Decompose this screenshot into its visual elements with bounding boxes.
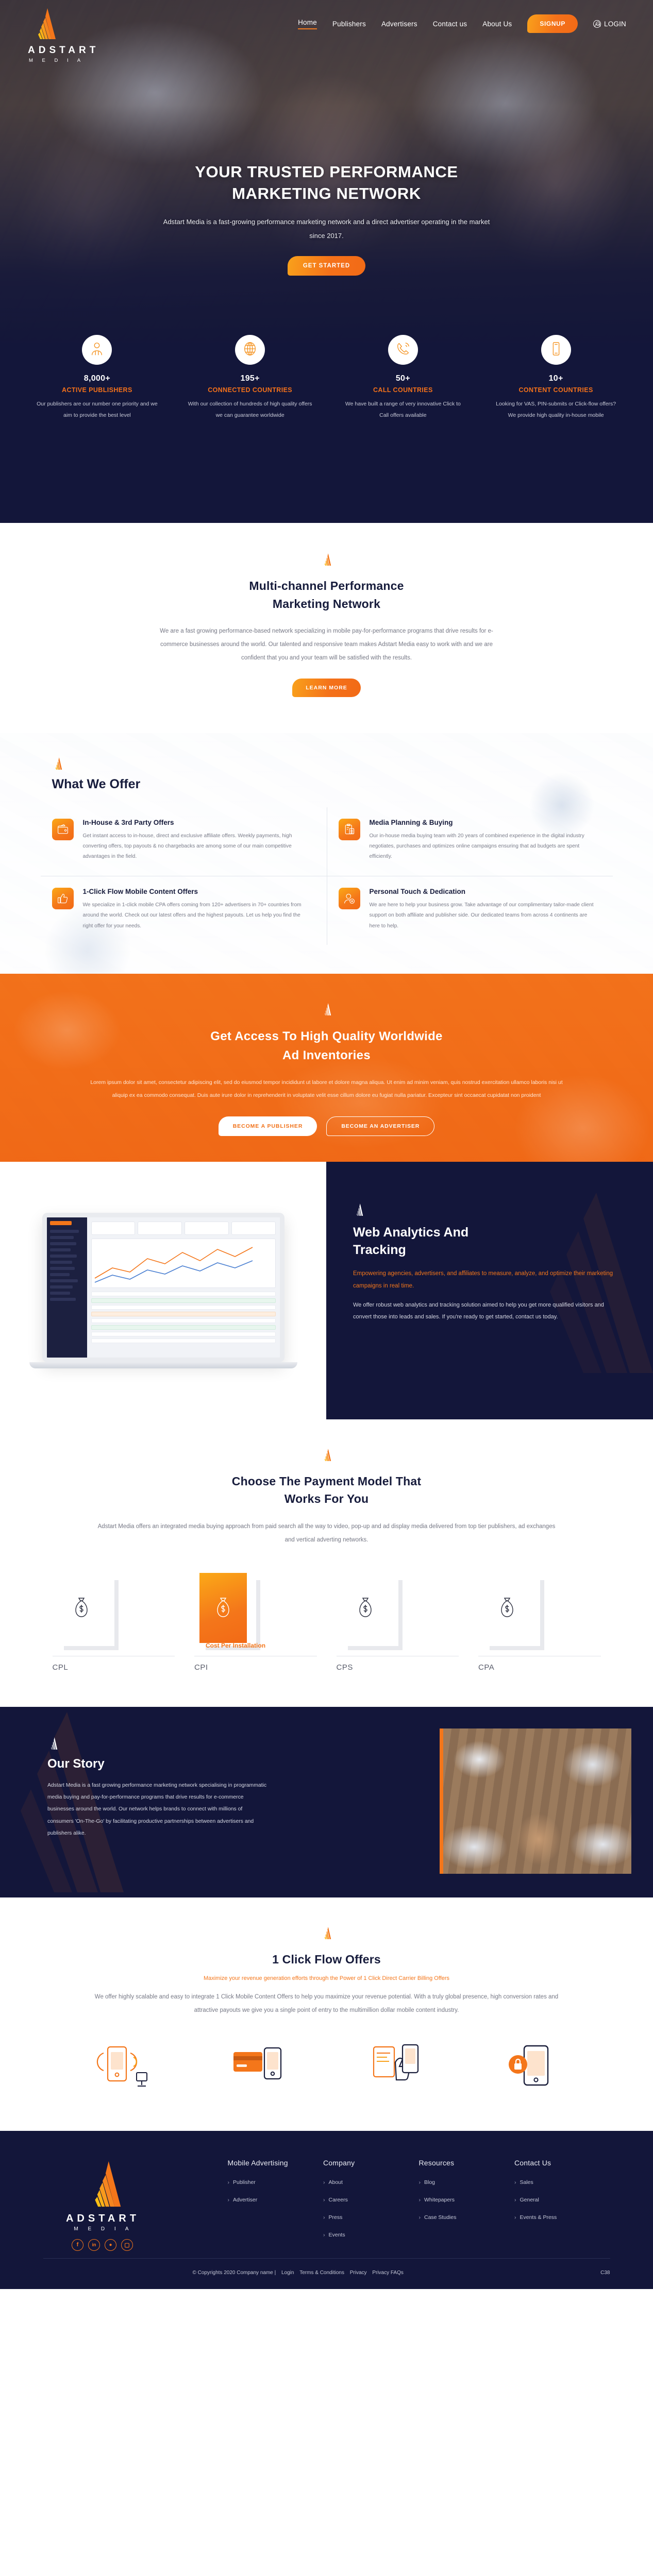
- analytics-title-line1: Web Analytics And: [353, 1225, 468, 1240]
- click-flow-card: [59, 2035, 183, 2101]
- payment-title-line1: Choose The Payment Model That: [232, 1475, 421, 1488]
- analytics-body: We offer robust web analytics and tracki…: [353, 1299, 617, 1323]
- laptop-mockup: [42, 1213, 284, 1368]
- adstart-mark-white-icon: [0, 1003, 653, 1019]
- globe-icon: [242, 341, 258, 359]
- footer-link-blog[interactable]: ›Blog: [419, 2179, 515, 2185]
- mobile-lock-icon: [504, 2042, 561, 2094]
- footer-columns: Mobile Advertising ›Publisher ›Advertise…: [162, 2158, 610, 2251]
- become-a-publisher-button[interactable]: BECOME A PUBLISHER: [219, 1116, 317, 1136]
- payment-model-name: Cost Per Installation: [206, 1642, 265, 1649]
- analytics-dashboard-preview: [0, 1162, 326, 1419]
- add-user-icon: [339, 888, 360, 909]
- payment-model-card[interactable]: Cost Per Installation CPI: [190, 1568, 321, 1676]
- payment-model-card[interactable]: CPL: [48, 1568, 179, 1676]
- site-footer: ADSTART M E D I A f in ● ▢ Mobile Advert…: [0, 2131, 653, 2289]
- footer-link-events[interactable]: ›Events: [323, 2232, 419, 2238]
- payment-model-abbr: CPI: [194, 1663, 208, 1672]
- adstart-mark-icon: [52, 757, 613, 773]
- offer-card-body: We specialize in 1-click mobile CPA offe…: [83, 900, 311, 931]
- user-icon: [593, 20, 601, 28]
- click-flow-card: [333, 2035, 458, 2101]
- payment-model-card[interactable]: CPS: [332, 1568, 463, 1676]
- our-story-section: Our Story Adstart Media is a fast growin…: [0, 1707, 653, 1897]
- login-label: LOGIN: [604, 20, 626, 28]
- footer-link-events-press[interactable]: ›Events & Press: [514, 2214, 610, 2221]
- stat-number: 50+: [340, 374, 466, 383]
- offer-card-body: Our in-house media buying team with 20 y…: [370, 831, 597, 862]
- stat-description: Our publishers are our number one priori…: [34, 399, 160, 421]
- footer-logo-wordmark: ADSTART: [43, 2213, 162, 2225]
- nav-item-advertisers[interactable]: Advertisers: [381, 20, 417, 28]
- mobile-icon: [548, 341, 564, 359]
- money-bag-icon: [483, 1573, 531, 1643]
- payment-models-grid: CPL Cost Per Installation CPI: [48, 1568, 605, 1676]
- payment-body: Adstart Media offers an integrated media…: [95, 1520, 559, 1547]
- offer-card-title: Media Planning & Buying: [370, 819, 597, 826]
- offer-card-title: 1-Click Flow Mobile Content Offers: [83, 888, 311, 895]
- footer-column-mobile-advertising: Mobile Advertising ›Publisher ›Advertise…: [228, 2159, 324, 2251]
- bottom-link-login[interactable]: Login: [281, 2270, 294, 2276]
- analytics-title-line2: Tracking: [353, 1243, 406, 1257]
- stat-number: 195+: [187, 374, 313, 383]
- offer-card: 1-Click Flow Mobile Content Offers We sp…: [41, 876, 327, 945]
- offer-card-body: We are here to help your business grow. …: [370, 900, 597, 931]
- linkedin-icon[interactable]: in: [88, 2239, 100, 2251]
- main-navigation: Home Publishers Advertisers Contact us A…: [298, 7, 626, 33]
- offer-card: Media Planning & Buying Our in-house med…: [327, 807, 613, 876]
- stat-icon-wrap: [388, 335, 418, 365]
- stat-description: With our collection of hundreds of high …: [187, 399, 313, 421]
- thumbs-up-icon: [52, 888, 74, 909]
- phone-icon: [395, 341, 411, 359]
- stat-card: 8,000+ ACTIVE PUBLISHERS Our publishers …: [21, 335, 174, 421]
- footer-logo[interactable]: ADSTART M E D I A f in ● ▢: [43, 2158, 162, 2251]
- site-header: ADSTART M E D I A Home Publishers Advert…: [0, 0, 653, 63]
- footer-divider: [43, 2258, 610, 2259]
- logo-wordmark: ADSTART: [27, 45, 104, 56]
- become-an-advertiser-button[interactable]: BECOME AN ADVERTISER: [326, 1116, 434, 1136]
- footer-link-case-studies[interactable]: ›Case Studies: [419, 2214, 515, 2221]
- click-flow-card: [470, 2035, 595, 2101]
- bottom-link-privacy-faqs[interactable]: Privacy FAQs: [372, 2270, 404, 2276]
- stat-label: CONTENT COUNTRIES: [493, 386, 619, 394]
- stat-icon-wrap: [82, 335, 112, 365]
- offer-grid: In-House & 3rd Party Offers Get instant …: [41, 807, 613, 945]
- nav-item-about-us[interactable]: About Us: [482, 20, 512, 28]
- analytics-highlight: Empowering agencies, advertisers, and af…: [353, 1268, 617, 1292]
- stat-card: 10+ CONTENT COUNTRIES Looking for VAS, P…: [479, 335, 632, 421]
- hero-title: YOUR TRUSTED PERFORMANCE MARKETING NETWO…: [0, 161, 653, 205]
- twitter-icon[interactable]: ●: [105, 2239, 116, 2251]
- footer-column-heading: Resources: [419, 2159, 515, 2167]
- money-bag-icon: [342, 1573, 389, 1643]
- footer-column-resources: Resources ›Blog ›Whitepapers ›Case Studi…: [419, 2159, 515, 2251]
- ad-inventories-cta-section: Get Access To High Quality Worldwide Ad …: [0, 974, 653, 1162]
- cta-title-line2: Ad Inventories: [282, 1048, 371, 1062]
- adstart-logo-icon: [27, 7, 104, 43]
- one-click-flow-section: 1 Click Flow Offers Maximize your revenu…: [0, 1897, 653, 2131]
- story-copy: Our Story Adstart Media is a fast growin…: [0, 1707, 268, 1840]
- payment-model-section: Choose The Payment Model That Works For …: [0, 1419, 653, 1707]
- multichannel-title: Multi-channel Performance Marketing Netw…: [0, 577, 653, 613]
- get-started-button[interactable]: GET STARTED: [288, 256, 365, 276]
- logo-subtext: M E D I A: [27, 58, 104, 63]
- footer-logo-subtext: M E D I A: [43, 2226, 162, 2232]
- cta-title-line1: Get Access To High Quality Worldwide: [210, 1029, 442, 1043]
- hero-subtitle: Adstart Media is a fast-growing performa…: [162, 215, 492, 243]
- hero-title-line1: YOUR TRUSTED PERFORMANCE: [195, 163, 458, 181]
- multichannel-body: We are a fast growing performance-based …: [152, 625, 502, 665]
- bottom-link-privacy[interactable]: Privacy: [350, 2270, 367, 2276]
- cta-title: Get Access To High Quality Worldwide Ad …: [0, 1027, 653, 1065]
- adstart-logo-icon: [78, 2201, 127, 2210]
- wallet-icon: [52, 819, 74, 840]
- footer-link-about[interactable]: ›About: [323, 2179, 419, 2185]
- stat-icon-wrap: [235, 335, 265, 365]
- stat-description: We have built a range of very innovative…: [340, 399, 466, 421]
- mobile-antenna-icon: [92, 2042, 150, 2094]
- payment-title: Choose The Payment Model That Works For …: [0, 1472, 653, 1508]
- page-root: ADSTART M E D I A Home Publishers Advert…: [0, 0, 653, 2289]
- money-bag-icon: [199, 1573, 247, 1643]
- stat-card: 50+ CALL COUNTRIES We have built a range…: [327, 335, 480, 421]
- footer-link-publisher[interactable]: ›Publisher: [228, 2179, 324, 2185]
- stats-row: 8,000+ ACTIVE PUBLISHERS Our publishers …: [0, 335, 653, 421]
- offer-title: What We Offer: [52, 777, 613, 792]
- copyright-bar: © Copyrights 2020 Company name | Login T…: [193, 2270, 404, 2276]
- clipboard-calculator-icon: [339, 819, 360, 840]
- click-flow-subtitle: Maximize your revenue generation efforts…: [0, 1975, 653, 1981]
- signup-button[interactable]: SIGNUP: [527, 14, 578, 33]
- adstart-mark-icon: [0, 1448, 653, 1464]
- multichannel-title-line1: Multi-channel Performance: [249, 579, 404, 592]
- mobile-card-icon: [229, 2042, 287, 2094]
- hero-copy: YOUR TRUSTED PERFORMANCE MARKETING NETWO…: [0, 161, 653, 276]
- footer-link-advertiser[interactable]: ›Advertiser: [228, 2197, 324, 2203]
- offer-card: In-House & 3rd Party Offers Get instant …: [41, 807, 327, 876]
- learn-more-button[interactable]: LEARN MORE: [292, 679, 361, 697]
- user-icon: [89, 341, 105, 359]
- payment-title-line2: Works For You: [284, 1492, 369, 1505]
- analytics-copy: Web Analytics And Tracking Empowering ag…: [326, 1162, 653, 1419]
- offer-header: What We Offer: [41, 757, 613, 792]
- adstart-mark-white-icon: [47, 1737, 268, 1753]
- nav-item-home[interactable]: Home: [298, 19, 317, 29]
- instagram-icon[interactable]: ▢: [121, 2239, 133, 2251]
- offer-card: Personal Touch & Dedication We are here …: [327, 876, 613, 945]
- footer-column-contact-us: Contact Us ›Sales ›General ›Events & Pre…: [514, 2159, 610, 2251]
- stat-label: CONNECTED COUNTRIES: [187, 386, 313, 394]
- bottom-link-terms[interactable]: Terms & Conditions: [299, 2270, 344, 2276]
- payment-model-abbr: CPA: [478, 1663, 494, 1672]
- story-title: Our Story: [47, 1757, 268, 1771]
- footer-link-sales[interactable]: ›Sales: [514, 2179, 610, 2185]
- nav-item-contact-us[interactable]: Contact us: [433, 20, 467, 28]
- what-we-offer-section: What We Offer In-House & 3rd Party Offer…: [0, 733, 653, 974]
- offer-card-title: Personal Touch & Dedication: [370, 888, 597, 895]
- site-logo[interactable]: ADSTART M E D I A: [27, 7, 104, 63]
- web-analytics-section: Web Analytics And Tracking Empowering ag…: [0, 1162, 653, 1419]
- footer-column-company: Company ›About ›Careers ›Press ›Events: [323, 2159, 419, 2251]
- click-flow-card: [196, 2035, 321, 2101]
- stat-card: 195+ CONNECTED COUNTRIES With our collec…: [174, 335, 327, 421]
- offer-card-body: Get instant access to in-house, direct a…: [83, 831, 311, 862]
- offer-card-title: In-House & 3rd Party Offers: [83, 819, 311, 826]
- page-code: C38: [600, 2270, 610, 2276]
- copyright-text: © Copyrights 2020 Company name |: [193, 2270, 276, 2276]
- story-image: [440, 1728, 631, 1874]
- stat-number: 8,000+: [34, 374, 160, 383]
- footer-column-heading: Contact Us: [514, 2159, 610, 2167]
- story-body: Adstart Media is a fast growing performa…: [47, 1780, 268, 1840]
- nav-item-publishers[interactable]: Publishers: [332, 20, 366, 28]
- login-link[interactable]: LOGIN: [593, 20, 626, 28]
- hero-section: ADSTART M E D I A Home Publishers Advert…: [0, 0, 653, 523]
- click-flow-body: We offer highly scalable and easy to int…: [95, 1991, 559, 2018]
- footer-link-press[interactable]: ›Press: [323, 2214, 419, 2221]
- multichannel-title-line2: Marketing Network: [273, 597, 380, 611]
- cta-buttons: BECOME A PUBLISHER BECOME AN ADVERTISER: [0, 1116, 653, 1136]
- click-flow-cards: [59, 2035, 595, 2101]
- payment-model-abbr: CPL: [53, 1663, 69, 1672]
- facebook-icon[interactable]: f: [72, 2239, 83, 2251]
- payment-model-abbr: CPS: [337, 1663, 353, 1672]
- stat-label: CALL COUNTRIES: [340, 386, 466, 394]
- cta-body: Lorem ipsum dolor sit amet, consectetur …: [90, 1076, 564, 1101]
- footer-link-general[interactable]: ›General: [514, 2197, 610, 2203]
- stat-description: Looking for VAS, PIN-submits or Click-fl…: [493, 399, 619, 421]
- multichannel-section: Multi-channel Performance Marketing Netw…: [0, 523, 653, 733]
- footer-link-careers[interactable]: ›Careers: [323, 2197, 419, 2203]
- footer-column-heading: Mobile Advertising: [228, 2159, 324, 2167]
- click-flow-title: 1 Click Flow Offers: [0, 1951, 653, 1969]
- money-bag-icon: [58, 1573, 105, 1643]
- payment-model-card[interactable]: CPA: [474, 1568, 605, 1676]
- stat-number: 10+: [493, 374, 619, 383]
- footer-bottom: © Copyrights 2020 Company name | Login T…: [43, 2270, 610, 2276]
- adstart-mark-icon: [0, 1926, 653, 1942]
- footer-link-whitepapers[interactable]: ›Whitepapers: [419, 2197, 515, 2203]
- analytics-title: Web Analytics And Tracking: [353, 1224, 617, 1259]
- adstart-mark-icon: [0, 553, 653, 569]
- social-links: f in ● ▢: [43, 2239, 162, 2251]
- mobile-hand-icon: [366, 2042, 424, 2094]
- hero-title-line2: MARKETING NETWORK: [232, 184, 421, 202]
- stat-label: ACTIVE PUBLISHERS: [34, 386, 160, 394]
- footer-column-heading: Company: [323, 2159, 419, 2167]
- stat-icon-wrap: [541, 335, 571, 365]
